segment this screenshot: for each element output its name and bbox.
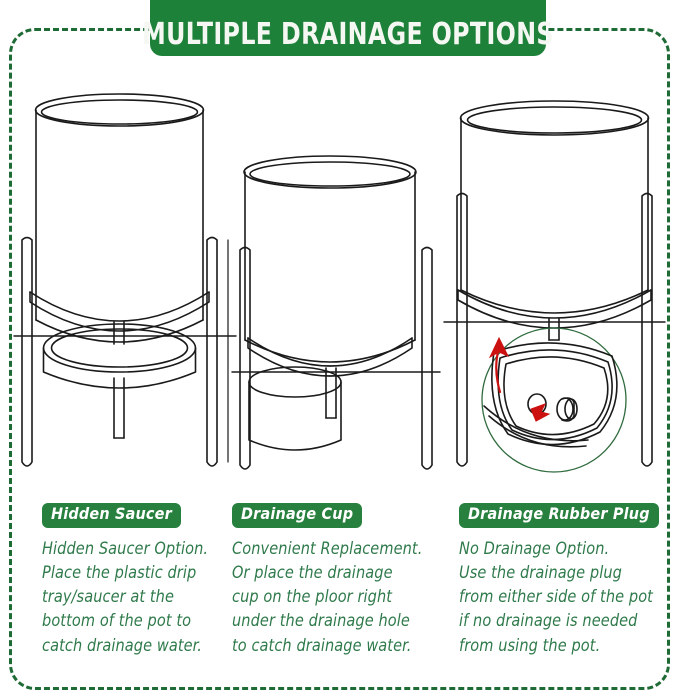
pot-rim-1 [36, 94, 204, 126]
infographic-root: MULTIPLE DRAINAGE OPTIONS Hidden Saucer … [0, 0, 679, 700]
planter-drainage-cup [232, 156, 440, 469]
center-pole-1 [114, 378, 124, 438]
drainage-cup [249, 367, 341, 450]
banner-title: MULTIPLE DRAINAGE OPTIONS [142, 20, 554, 50]
option-column-hidden-saucer: Hidden Saucer Hidden Saucer Option. Plac… [0, 503, 222, 683]
option-column-drainage-cup: Drainage Cup Convenient Replacement. Or … [222, 503, 437, 683]
drain-spout-1 [114, 322, 124, 344]
pot-body-1 [36, 110, 203, 342]
stand-support-ring-3 [444, 290, 665, 328]
pot-rim-2 [244, 156, 416, 188]
chip-label: Hidden Saucer [51, 504, 172, 523]
description-drainage-cup: Convenient Replacement. Or place the dra… [232, 537, 427, 658]
pot-body-2 [245, 172, 415, 362]
description-hidden-saucer: Hidden Saucer Option. Place the plastic … [42, 537, 213, 658]
planter-hidden-saucer [14, 94, 236, 466]
rubber-plug [557, 398, 577, 421]
option-column-rubber-plug: Drainage Rubber Plug No Drainage Option.… [437, 503, 679, 683]
chip-hidden-saucer: Hidden Saucer [42, 503, 181, 528]
captions-row: Hidden Saucer Hidden Saucer Option. Plac… [0, 503, 679, 683]
stand-legs-2 [240, 248, 432, 470]
chip-drainage-cup: Drainage Cup [232, 503, 362, 528]
description-rubber-plug: No Drainage Option. Use the drainage plu… [459, 537, 668, 658]
pot-rim-3 [461, 101, 649, 135]
chip-label: Drainage Rubber Plug [468, 504, 650, 523]
chip-label: Drainage Cup [241, 504, 353, 523]
chip-drainage-rubber-plug: Drainage Rubber Plug [459, 503, 659, 528]
title-banner: MULTIPLE DRAINAGE OPTIONS [150, 0, 546, 56]
planter-rubber-plug [444, 101, 665, 466]
pot-body-3 [461, 118, 648, 313]
